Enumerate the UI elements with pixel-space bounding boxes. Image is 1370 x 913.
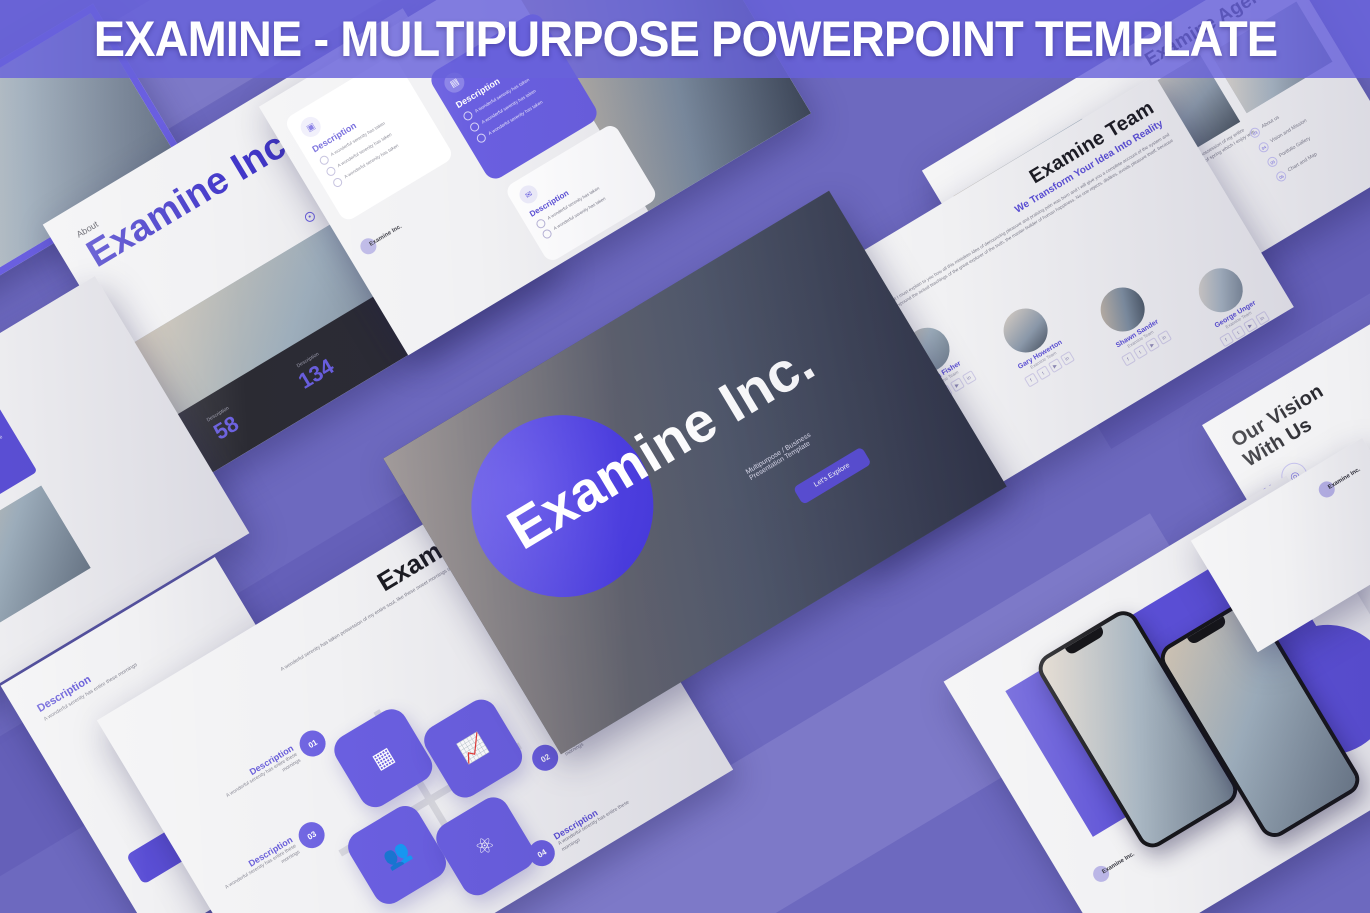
linkedin-icon[interactable]: in (1060, 351, 1075, 366)
number-icon: 05 (1266, 155, 1280, 169)
about-bullet-icon: ● (303, 210, 317, 224)
banner-title: EXAMINE - MULTIPURPOSE POWERPOINT TEMPLA… (93, 10, 1276, 68)
check-icon (475, 132, 487, 144)
logo-badge: Examine Inc. (1090, 847, 1138, 885)
matrix-tile-2[interactable]: 📈 (418, 694, 528, 804)
logo-label: Examine Inc. (1327, 467, 1362, 491)
users-network-icon: 👥 (379, 837, 416, 873)
growth-chart-icon: 📈 (455, 730, 492, 766)
logo-label: Examine Inc. (369, 224, 404, 248)
team-member[interactable]: Gary Howerton Examine Team f t ▶ in (975, 288, 1091, 398)
poster-stage: About Examine Inc. A wonderful serenity … (0, 0, 1370, 913)
youtube-icon[interactable]: ▶ (1145, 337, 1160, 352)
check-icon (468, 121, 480, 133)
logo-badge: Examine Inc. (1316, 462, 1364, 500)
point-number: 03 (294, 817, 330, 853)
logo-badge: Examine Inc. (357, 219, 405, 257)
monitor-icon: ▣ (297, 113, 324, 140)
twitter-icon[interactable]: t (1133, 345, 1148, 360)
team-member[interactable]: Shawn Sander Examine Team f t ▶ in (1072, 267, 1188, 377)
check-icon (462, 110, 474, 122)
youtube-icon[interactable]: ▶ (1048, 358, 1063, 373)
matrix-point[interactable]: Description A wonderful serenity has ent… (207, 726, 330, 814)
portfolio-card-title: Description (0, 420, 1, 488)
molecule-icon: ⚛ (470, 830, 500, 862)
check-icon (318, 154, 330, 166)
facebook-icon[interactable]: f (1121, 352, 1136, 367)
number-icon: 04 (1257, 140, 1271, 154)
linkedin-icon[interactable]: in (1157, 330, 1172, 345)
matrix-point[interactable]: Description A wonderful serenity has ent… (206, 817, 329, 905)
check-icon (535, 218, 547, 230)
mail-icon: ✉ (516, 182, 541, 207)
matrix-tile-4[interactable]: ⚛ (430, 791, 540, 901)
check-icon (331, 176, 343, 188)
check-icon (325, 165, 337, 177)
point-number: 01 (295, 726, 331, 762)
youtube-icon[interactable]: ▶ (949, 378, 964, 393)
facebook-icon[interactable]: f (1023, 373, 1038, 388)
number-icon: 06 (1274, 170, 1288, 184)
check-icon (541, 228, 553, 240)
portfolio-card-text: A wonderful serenity has taken possessio… (0, 433, 10, 504)
linkedin-icon[interactable]: in (961, 370, 976, 385)
matrix-tile-1[interactable]: ▦ (328, 703, 438, 813)
logo-label: Examine Inc. (1101, 851, 1136, 875)
presentation-icon: ▦ (368, 742, 399, 775)
twitter-icon[interactable]: t (1035, 366, 1050, 381)
title-banner: EXAMINE - MULTIPURPOSE POWERPOINT TEMPLA… (0, 0, 1370, 78)
agenda-item-label: About us (1261, 115, 1282, 132)
portfolio-photo (0, 486, 91, 635)
